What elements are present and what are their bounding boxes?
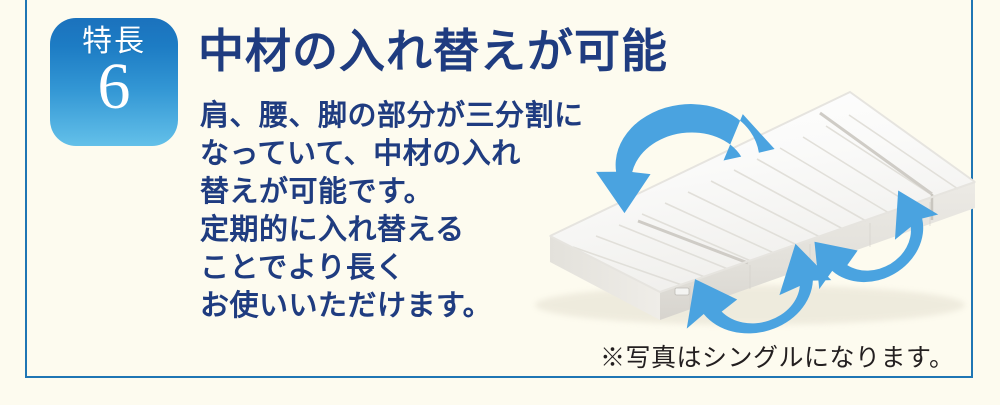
mattress-shadow (535, 285, 965, 325)
badge-number-text: 6 (98, 56, 131, 119)
feature-headline: 中材の入れ替えが可能 (198, 26, 668, 77)
feature-banner: 特長 6 中材の入れ替えが可能 肩、腰、脚の部分が三分割に なっていて、中材の入… (0, 0, 1000, 405)
feature-number-badge: 特長 6 (50, 18, 178, 146)
photo-disclaimer-note: ※写真はシングルになります。 (600, 338, 955, 374)
mattress-label-tag (675, 288, 689, 295)
mattress-product-photo (520, 70, 990, 340)
